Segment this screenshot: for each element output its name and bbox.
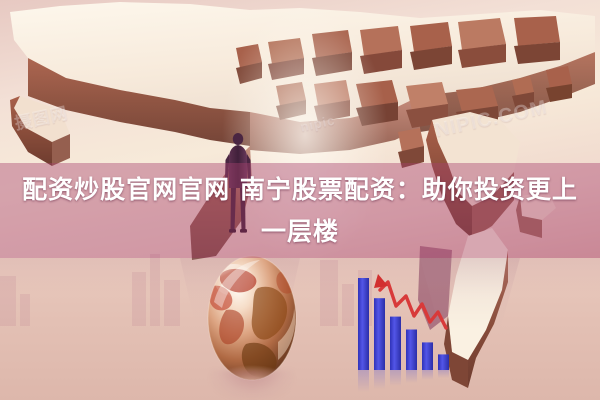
banner-image: 摄图网 nipic NIPIC.COM 配资炒股官网官网 南宁股票配资：助你投资… xyxy=(0,0,600,400)
caption-line-2: 一层楼 xyxy=(261,211,339,253)
bar-chart-graphic xyxy=(352,272,462,400)
globe-reflection xyxy=(210,370,294,400)
caption-overlay-band: 配资炒股官网官网 南宁股票配资：助你投资更上 一层楼 xyxy=(0,163,600,258)
caption-line-1: 配资炒股官网官网 南宁股票配资：助你投资更上 xyxy=(22,169,578,211)
metallic-globe xyxy=(196,252,308,400)
